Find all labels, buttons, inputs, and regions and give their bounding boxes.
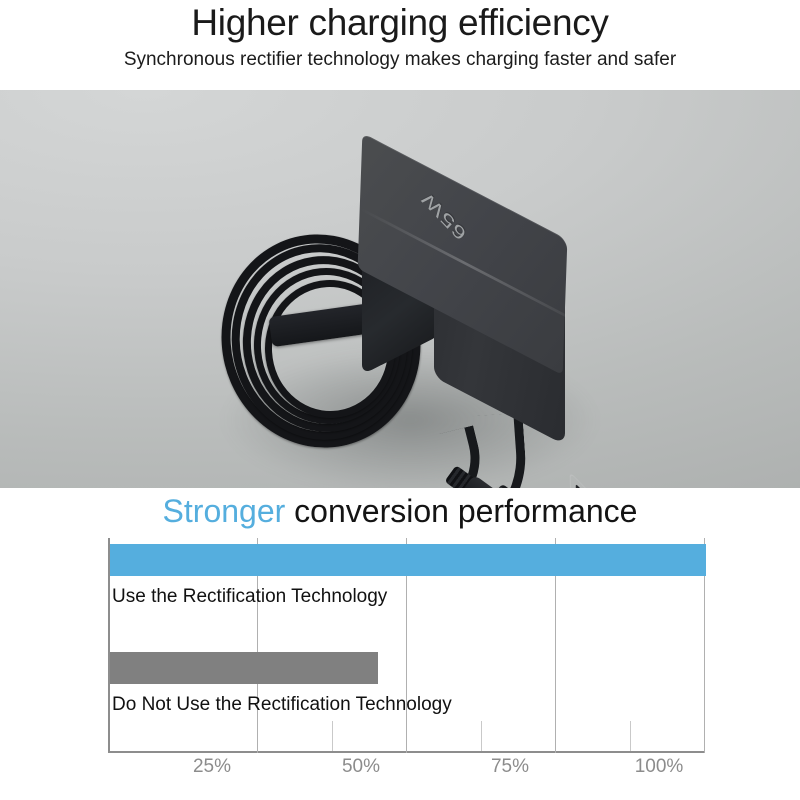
chart-title-highlight: Stronger: [163, 493, 286, 529]
chart-title: Stronger conversion performance: [0, 492, 800, 530]
wattage-label: 65W: [418, 187, 470, 244]
x-tick-label: 50%: [342, 756, 380, 778]
power-adapter-brick: 65W: [355, 185, 645, 450]
product-infographic: Higher charging efficiency Synchronous r…: [0, 0, 800, 800]
bar-category-label: Use the Rectification Technology: [112, 586, 387, 608]
bar-1: [110, 652, 378, 684]
conversion-performance-chart: Stronger conversion performance Use the …: [0, 488, 800, 800]
x-tick-label: 100%: [635, 756, 684, 778]
page-title: Higher charging efficiency: [0, 2, 800, 44]
x-tick-label: 25%: [193, 756, 231, 778]
bar-category-label: Do Not Use the Rectification Technology: [112, 694, 452, 716]
gridline-minor: [481, 721, 482, 751]
page-subtitle: Synchronous rectifier technology makes c…: [0, 47, 800, 73]
x-axis-tick-labels: 25%50%75%100%: [108, 756, 748, 784]
gridline-minor: [630, 721, 631, 751]
product-photo: 65W: [0, 90, 800, 488]
gridline-minor: [332, 721, 333, 751]
chart-title-rest: conversion performance: [285, 493, 637, 529]
header: Higher charging efficiency Synchronous r…: [0, 0, 800, 73]
chart-plot-area: Use the Rectification TechnologyDo Not U…: [108, 538, 704, 753]
bar-0: [110, 544, 706, 576]
x-tick-label: 75%: [491, 756, 529, 778]
